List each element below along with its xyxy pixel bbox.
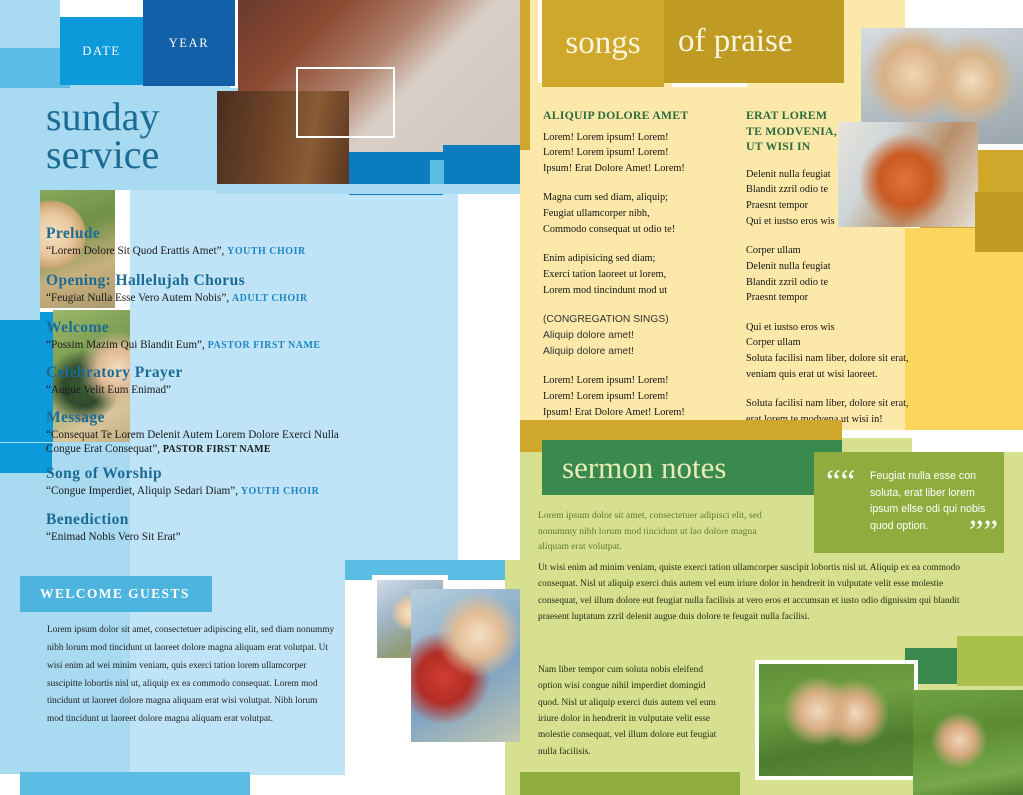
sermon-notes-label: sermon notes [542, 450, 726, 486]
sermon-paragraph-2: Nam liber tempor cum soluta nobis eleife… [538, 662, 728, 760]
order-item-detail: “Enimad Nobis Vero Sit Erat” [46, 530, 346, 544]
sermon-paragraph-1: Ut wisi enim ad minim veniam, quiste exe… [538, 560, 981, 625]
decor-block-below-blue [217, 184, 520, 194]
date-label: DATE [82, 44, 120, 59]
decor-green-mid-band [520, 772, 740, 795]
quote-open-icon: ““ [826, 466, 855, 499]
order-item-performer: ADULT CHOIR [232, 293, 308, 304]
order-item-title: Song of Worship [46, 465, 346, 483]
song-column-right: ERAT LOREM TE MODVENIA, UT WISI IN Delen… [746, 108, 926, 442]
decor-green-light-block [957, 636, 1023, 686]
order-item-prelude: Prelude “Lorem Dolore Sit Quod Erattis A… [46, 225, 346, 259]
order-item-message: Message “Consequat Te Lorem Delenit Aute… [46, 409, 346, 457]
order-item-performer: YOUTH CHOIR [227, 246, 306, 257]
order-item-quote: “Enimad Nobis Vero Sit Erat” [46, 531, 181, 543]
songs-heading-label: songs [565, 25, 640, 62]
decor-gold-tab [520, 0, 530, 150]
welcome-guests-label: WELCOME GUESTS [20, 586, 190, 602]
song-right-heading: ERAT LOREM TE MODVENIA, UT WISI IN [746, 108, 926, 155]
song-right-verse1: Delenit nulla feugiat Blandit zzril odio… [746, 167, 926, 230]
song-left-verse3: Enim adipisicing sed diam; Exerci tation… [543, 251, 728, 298]
song-column-left: ALIQUIP DOLORE AMET Lorem! Lorem ipsum! … [543, 108, 728, 434]
order-item-song-of-worship: Song of Worship “Congue Imperdiet, Aliqu… [46, 465, 346, 499]
year-label: YEAR [169, 36, 209, 51]
date-badge: DATE [60, 17, 143, 85]
song-left-verse4: Lorem! Lorem ipsum! Lorem! Lorem! Lorem … [543, 373, 728, 420]
order-item-title: Benediction [46, 511, 346, 529]
order-item-title: Prelude [46, 225, 346, 243]
order-item-performer: YOUTH CHOIR [241, 486, 320, 497]
decor-white-underline [672, 83, 747, 87]
order-item-opening: Opening: Hallelujah Chorus “Feugiat Null… [46, 272, 346, 306]
song-right-verse2: Corper ullam Delenit nulla feugiat Bland… [746, 243, 926, 306]
photo-highlight-frame [296, 67, 395, 138]
order-item-detail: “Augue Velit Eum Enimad” [46, 383, 346, 397]
child-grass-photo [913, 690, 1023, 795]
song-left-verse2: Magna cum sed diam, aliquip; Feugiat ull… [543, 190, 728, 237]
song-left-congregation-note: (CONGREGATION SINGS) Aliquip dolore amet… [543, 312, 728, 359]
pull-quote-box: ““ Feugiat nulla esse con soluta, erat l… [814, 452, 1004, 553]
praise-heading-block: of praise [664, 0, 844, 83]
decor-block-left-col [0, 190, 40, 320]
song-right-verse3: Qui et iustso eros wis Corper ullam Solu… [746, 320, 926, 383]
order-item-benediction: Benediction “Enimad Nobis Vero Sit Erat” [46, 511, 346, 544]
decor-white-gap [842, 430, 912, 438]
decor-block-left-lower2 [0, 443, 52, 473]
quote-close-icon: ”” [969, 516, 998, 549]
couple-outdoors-photo [411, 589, 520, 742]
order-item-detail: “Congue Imperdiet, Aliquip Sedari Diam”,… [46, 484, 346, 499]
mother-child-grass-photo [755, 660, 918, 780]
left-panel: DATE YEAR sunday service Prelude “Lorem … [0, 0, 520, 795]
song-left-heading: ALIQUIP DOLORE AMET [543, 108, 728, 124]
welcome-guests-body: Lorem ipsum dolor sit amet, consectetuer… [47, 622, 335, 729]
welcome-guests-heading: WELCOME GUESTS [20, 576, 212, 612]
order-item-performer: PASTOR FIRST NAME [163, 444, 271, 455]
order-item-prayer: Celebratory Prayer “Augue Velit Eum Enim… [46, 364, 346, 397]
order-item-welcome: Welcome “Possim Mazim Qui Blandit Eum”, … [46, 319, 346, 353]
order-item-detail: “Possim Mazim Qui Blandit Eum”, PASTOR F… [46, 338, 346, 353]
order-item-quote: “Lorem Dolore Sit Quod Erattis Amet”, [46, 245, 224, 257]
order-item-detail: “Lorem Dolore Sit Quod Erattis Amet”, YO… [46, 244, 346, 259]
order-item-detail: “Feugiat Nulla Esse Vero Autem Nobis”, A… [46, 291, 346, 306]
decor-block-top-left [0, 0, 60, 48]
sermon-intro-text: Lorem ipsum dolor sit amet, consectetuer… [538, 508, 773, 555]
order-item-quote: “Possim Mazim Qui Blandit Eum”, [46, 339, 205, 351]
right-panel: songs of praise ALIQUIP DOLORE AMET Lore… [520, 0, 1023, 795]
order-item-quote: “Feugiat Nulla Esse Vero Autem Nobis”, [46, 292, 229, 304]
order-item-quote: “Augue Velit Eum Enimad” [46, 384, 171, 396]
decor-block-bottom-left [0, 474, 20, 774]
songs-heading-block: songs [542, 0, 664, 87]
song-left-verse1: Lorem! Lorem ipsum! Lorem! Lorem! Lorem … [543, 130, 728, 177]
order-item-performer: PASTOR FIRST NAME [208, 340, 321, 351]
order-item-detail: “Consequat Te Lorem Delenit Autem Lorem … [46, 428, 346, 457]
year-badge: YEAR [143, 0, 235, 86]
sermon-notes-heading: sermon notes [542, 440, 842, 495]
order-item-title: Opening: Hallelujah Chorus [46, 272, 346, 290]
brochure-page: DATE YEAR sunday service Prelude “Lorem … [0, 0, 1023, 795]
order-item-title: Celebratory Prayer [46, 364, 346, 382]
decor-gold-corner [975, 192, 1023, 252]
praise-heading-label: of praise [664, 23, 793, 60]
order-item-title: Message [46, 409, 346, 427]
order-item-quote: “Congue Imperdiet, Aliquip Sedari Diam”, [46, 485, 238, 497]
decor-block-bottom-band [20, 772, 250, 795]
order-item-title: Welcome [46, 319, 346, 337]
